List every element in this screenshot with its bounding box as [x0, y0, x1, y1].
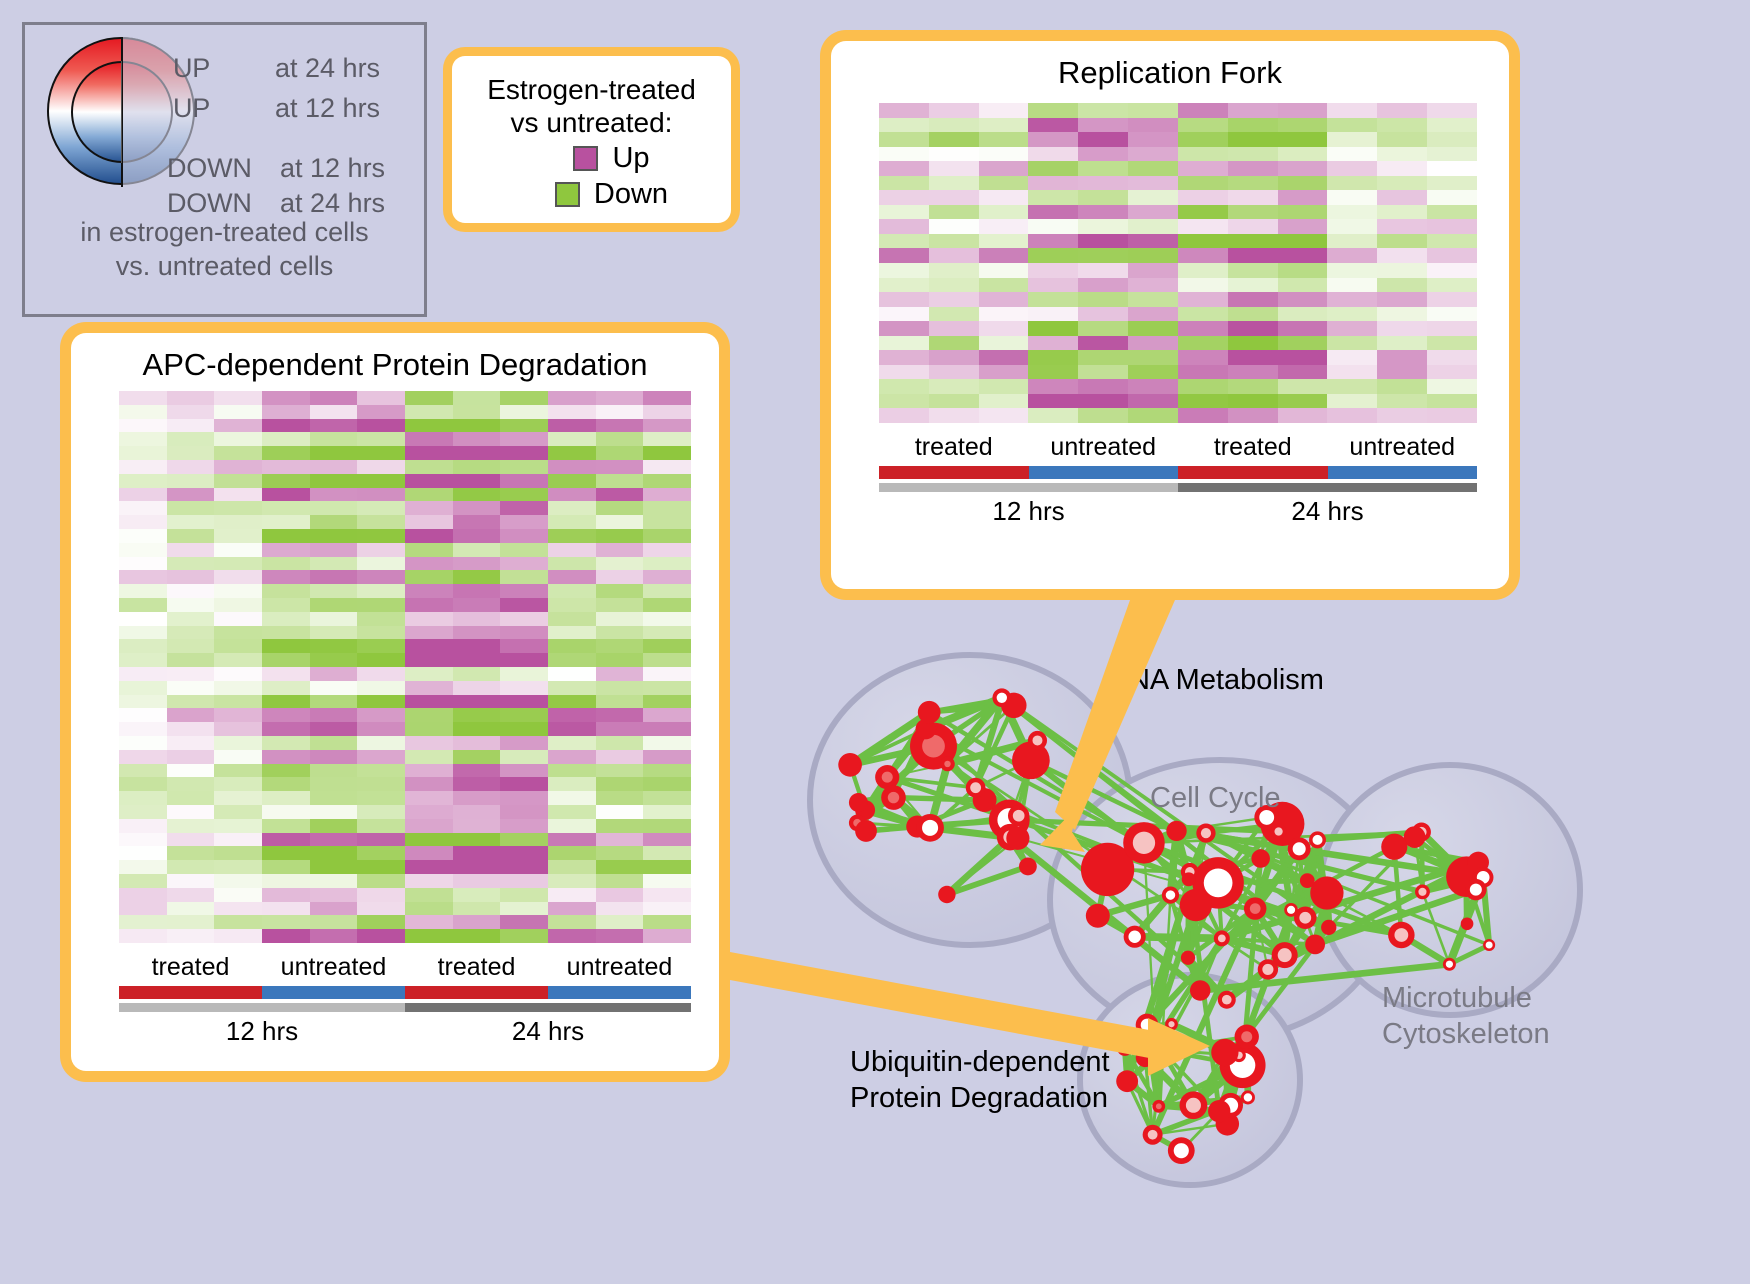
network-node[interactable] — [1190, 980, 1210, 1000]
heatmap-cell — [167, 681, 215, 695]
heatmap-cell — [262, 584, 310, 598]
heatmap-cell — [262, 805, 310, 819]
heatmap-cell — [214, 722, 262, 736]
heatmap-cell — [262, 736, 310, 750]
heatmap-cell — [1028, 321, 1078, 336]
heatmap-cell — [596, 750, 644, 764]
heatmap-cell — [596, 929, 644, 943]
heatmap-cell — [119, 391, 167, 405]
heatmap-cell — [262, 557, 310, 571]
heatmap-cell — [979, 365, 1029, 380]
heatmap-cell — [1128, 336, 1178, 351]
heatmap-cell — [310, 460, 358, 474]
heatmap-cell — [357, 557, 405, 571]
network-node[interactable] — [1168, 1137, 1195, 1164]
heatmap-cell — [214, 488, 262, 502]
heatmap-cell — [548, 488, 596, 502]
network-node[interactable] — [1182, 872, 1196, 886]
node-core — [1394, 928, 1408, 942]
heatmap-cell — [357, 791, 405, 805]
heatmap-cell — [310, 833, 358, 847]
heatmap-cell — [357, 419, 405, 433]
heatmap-cell — [548, 791, 596, 805]
heatmap-cell — [453, 874, 501, 888]
heatmap-cell — [1427, 103, 1477, 118]
heatmap-cell — [929, 379, 979, 394]
heatmap-cell — [500, 529, 548, 543]
network-node[interactable] — [1321, 920, 1336, 935]
node-outer-ring — [855, 820, 877, 842]
node-core — [1222, 995, 1232, 1005]
heatmap-cell — [1128, 350, 1178, 365]
heatmap-cell — [548, 805, 596, 819]
heatmap-cell — [1278, 118, 1328, 133]
heatmap-cell — [596, 584, 644, 598]
heatmap-cell — [643, 419, 691, 433]
network-node[interactable] — [940, 757, 955, 772]
apc-treatment-bar — [119, 986, 691, 999]
network-node[interactable] — [1288, 837, 1311, 860]
heatmap-cell — [596, 681, 644, 695]
network-node[interactable] — [1483, 939, 1495, 951]
heatmap-cell — [1278, 263, 1328, 278]
heatmap-cell — [262, 874, 310, 888]
network-node[interactable] — [849, 793, 868, 812]
heatmap-cell — [1128, 292, 1178, 307]
legend-time-up-12: at 12 hrs — [275, 93, 380, 124]
heatmap-cell — [548, 612, 596, 626]
network-node[interactable] — [1162, 886, 1179, 903]
heatmap-cell — [310, 929, 358, 943]
heatmap-cell — [1377, 219, 1427, 234]
network-node[interactable] — [1028, 731, 1047, 750]
heatmap-cell — [167, 722, 215, 736]
cluster-microtubule — [1320, 765, 1580, 1015]
heatmap-cell — [405, 432, 453, 446]
heatmap-cell — [1377, 394, 1427, 409]
heatmap-cell — [357, 833, 405, 847]
heatmap-cell — [310, 902, 358, 916]
heatmap-cell — [310, 736, 358, 750]
network-node[interactable] — [1415, 884, 1430, 899]
updown-key-row-down: Down — [515, 178, 668, 211]
heatmap-cell — [357, 639, 405, 653]
heatmap-cell — [310, 860, 358, 874]
heatmap-cell — [405, 846, 453, 860]
network-node[interactable] — [1008, 805, 1029, 826]
heatmap-cell — [405, 557, 453, 571]
heatmap-cell — [405, 529, 453, 543]
heatmap-cell — [643, 598, 691, 612]
heatmap-cell — [1228, 161, 1278, 176]
heatmap-cell — [596, 846, 644, 860]
heatmap-cell — [262, 612, 310, 626]
heatmap-cell — [453, 860, 501, 874]
heatmap-cell — [405, 570, 453, 584]
network-node[interactable] — [1244, 897, 1266, 919]
heatmap-cell — [1228, 408, 1278, 423]
heatmap-cell — [357, 488, 405, 502]
heatmap-cell — [262, 543, 310, 557]
heatmap-cell — [548, 653, 596, 667]
heatmap-cell — [548, 570, 596, 584]
heatmap-cell — [879, 103, 929, 118]
heatmap-cell — [643, 460, 691, 474]
time-label: 12 hrs — [879, 496, 1178, 527]
network-node[interactable] — [1152, 1100, 1165, 1113]
heatmap-cell — [119, 529, 167, 543]
network-node[interactable] — [1208, 1100, 1230, 1122]
heatmap-cell — [1178, 219, 1228, 234]
heatmap-cell — [979, 161, 1029, 176]
heatmap-cell — [357, 708, 405, 722]
heatmap-cell — [1427, 190, 1477, 205]
heatmap-cell — [167, 391, 215, 405]
heatmap-cell — [214, 833, 262, 847]
network-node[interactable] — [1241, 1090, 1255, 1104]
network-node[interactable] — [1465, 879, 1486, 900]
node-outer-ring — [849, 793, 868, 812]
heatmap-cell — [119, 915, 167, 929]
node-outer-ring — [1321, 920, 1336, 935]
heatmap-cell — [405, 543, 453, 557]
updown-key-title-line2: vs untreated: — [487, 106, 696, 139]
node-core — [1278, 948, 1292, 962]
heatmap-cell — [643, 529, 691, 543]
heatmap-cell — [548, 929, 596, 943]
node-core — [1287, 906, 1295, 914]
heatmap-cell — [1278, 103, 1328, 118]
heatmap-cell — [1427, 205, 1477, 220]
heatmap-cell — [929, 365, 979, 380]
heatmap-cell — [1327, 292, 1377, 307]
heatmap-cell — [1128, 321, 1178, 336]
network-node[interactable] — [1461, 917, 1474, 930]
heatmap-cell — [453, 598, 501, 612]
heatmap-cell — [596, 653, 644, 667]
node-outer-ring — [1305, 934, 1325, 954]
heatmap-cell — [548, 819, 596, 833]
heatmap-cell — [500, 722, 548, 736]
heatmap-cell — [643, 501, 691, 515]
replication-treatment-bar — [879, 466, 1477, 479]
heatmap-cell — [596, 833, 644, 847]
heatmap-cell — [1327, 408, 1377, 423]
heatmap-cell — [310, 888, 358, 902]
network-node[interactable] — [1086, 904, 1110, 928]
heatmap-cell — [979, 132, 1029, 147]
heatmap-cell — [643, 805, 691, 819]
heatmap-cell — [214, 501, 262, 515]
network-node[interactable] — [1117, 1040, 1133, 1056]
network-node[interactable] — [1019, 858, 1037, 876]
heatmap-cell — [1228, 132, 1278, 147]
heatmap-cell — [167, 846, 215, 860]
heatmap-cell — [1228, 219, 1278, 234]
heatmap-cell — [548, 902, 596, 916]
heatmap-cell — [167, 639, 215, 653]
heatmap-cell — [310, 681, 358, 695]
heatmap-cell — [167, 929, 215, 943]
network-node[interactable] — [992, 688, 1011, 707]
node-outer-ring — [1461, 917, 1474, 930]
heatmap-cell — [596, 515, 644, 529]
heatmap-cell — [548, 391, 596, 405]
network-node[interactable] — [1218, 991, 1236, 1009]
heatmap-cell — [405, 750, 453, 764]
inner-ring-divider-line — [121, 61, 122, 163]
heatmap-cell — [1178, 176, 1228, 191]
heatmap-cell — [310, 598, 358, 612]
legend-footer-line2: vs. untreated cells — [25, 249, 424, 283]
heatmap-cell — [453, 819, 501, 833]
network-node[interactable] — [1143, 1125, 1163, 1145]
heatmap-cell — [1427, 365, 1477, 380]
heatmap-cell — [1178, 379, 1228, 394]
heatmap-cell — [214, 432, 262, 446]
heatmap-cell — [548, 874, 596, 888]
heatmap-cell — [1278, 132, 1328, 147]
heatmap-cell — [167, 764, 215, 778]
heatmap-cell — [357, 501, 405, 515]
network-node[interactable] — [1310, 876, 1343, 909]
network-node[interactable] — [918, 701, 941, 724]
node-outer-ring — [1300, 873, 1315, 888]
heatmap-cell — [1128, 147, 1178, 162]
network-node[interactable] — [1381, 834, 1407, 860]
heatmap-cell — [500, 612, 548, 626]
heatmap-cell — [262, 446, 310, 460]
heatmap-cell — [879, 234, 929, 249]
heatmap-cell — [1128, 263, 1178, 278]
heatmap-cell — [405, 819, 453, 833]
network-node[interactable] — [1180, 889, 1212, 921]
group-label: treated — [1178, 433, 1328, 462]
heatmap-cell — [119, 764, 167, 778]
heatmap-cell — [1377, 408, 1427, 423]
heatmap-cell — [643, 736, 691, 750]
heatmap-cell — [643, 860, 691, 874]
network-node[interactable] — [1258, 959, 1278, 979]
heatmap-cell — [879, 132, 929, 147]
heatmap-cell — [643, 902, 691, 916]
heatmap-cell — [643, 557, 691, 571]
heatmap-cell — [596, 902, 644, 916]
heatmap-cell — [1327, 263, 1377, 278]
network-node[interactable] — [966, 778, 986, 798]
heatmap-cell — [310, 750, 358, 764]
heatmap-cell — [500, 695, 548, 709]
node-outer-ring — [1180, 889, 1212, 921]
network-node[interactable] — [1235, 1025, 1259, 1049]
time-label: 24 hrs — [405, 1016, 691, 1047]
heatmap-cell — [214, 529, 262, 543]
heatmap-cell — [1327, 350, 1377, 365]
network-node[interactable] — [1136, 1014, 1159, 1037]
cluster-label-dna-metabolism: DNA Metabolism — [1108, 662, 1324, 698]
network-node[interactable] — [1214, 930, 1230, 946]
pathway-network-diagram: DNA Metabolism Cell Cycle Microtubule Cy… — [790, 600, 1750, 1279]
node-outer-ring — [1019, 858, 1037, 876]
heatmap-cell — [453, 791, 501, 805]
heatmap-cell — [262, 695, 310, 709]
heatmap-cell — [500, 391, 548, 405]
updown-color-key: Estrogen-treated vs untreated: Up Down — [443, 47, 740, 232]
heatmap-cell — [1078, 234, 1128, 249]
heatmap-cell — [214, 888, 262, 902]
group-label: untreated — [1328, 433, 1478, 462]
heatmap-cell — [357, 432, 405, 446]
heatmap-cell — [500, 432, 548, 446]
heatmap-cell — [929, 394, 979, 409]
network-node[interactable] — [1300, 873, 1315, 888]
network-node[interactable] — [881, 785, 906, 810]
heatmap-cell — [214, 598, 262, 612]
node-core — [1293, 842, 1306, 855]
heatmap-cell — [500, 653, 548, 667]
heatmap-cell — [1327, 248, 1377, 263]
heatmap-cell — [214, 543, 262, 557]
heatmap-cell — [167, 488, 215, 502]
heatmap-cell — [167, 888, 215, 902]
treatment-bar-segment — [262, 986, 405, 999]
replication-axis: treated untreated treated untreated 12 h… — [879, 433, 1477, 527]
cluster-label-microtubule: Microtubule — [1382, 980, 1532, 1016]
heatmap-cell — [1278, 176, 1328, 191]
heatmap-cell — [500, 708, 548, 722]
node-core — [1157, 1046, 1166, 1055]
node-outer-ring — [1208, 1100, 1230, 1122]
node-core — [1250, 903, 1261, 914]
heatmap-cell — [1427, 118, 1477, 133]
heatmap-cell — [1278, 205, 1328, 220]
heatmap-cell — [643, 432, 691, 446]
heatmap-cell — [310, 667, 358, 681]
heatmap-cell — [1128, 205, 1178, 220]
heatmap-cell — [1028, 190, 1078, 205]
network-node[interactable] — [1165, 1018, 1178, 1031]
heatmap-cell — [548, 833, 596, 847]
heatmap-cell — [1377, 190, 1427, 205]
heatmap-cell — [500, 584, 548, 598]
heatmap-cell — [214, 474, 262, 488]
heatmap-cell — [310, 557, 358, 571]
heatmap-cell — [1028, 219, 1078, 234]
heatmap-cell — [643, 722, 691, 736]
heatmap-cell — [979, 321, 1029, 336]
heatmap-cell — [879, 161, 929, 176]
group-label: treated — [879, 433, 1029, 462]
network-node[interactable] — [1309, 831, 1326, 848]
network-node[interactable] — [1443, 958, 1456, 971]
network-node[interactable] — [1006, 827, 1029, 850]
heatmap-cell — [1028, 336, 1078, 351]
heatmap-cell — [500, 888, 548, 902]
heatmap-cell — [1128, 234, 1178, 249]
heatmap-cell — [1128, 379, 1178, 394]
network-node[interactable] — [938, 886, 955, 903]
up-label: Up — [612, 142, 649, 175]
heatmap-cell — [1327, 219, 1377, 234]
node-core — [1470, 884, 1482, 896]
heatmap-cell — [979, 118, 1029, 133]
heatmap-cell — [879, 379, 929, 394]
heatmap-cell — [1377, 205, 1427, 220]
network-node[interactable] — [1181, 951, 1195, 965]
heatmap-cell — [929, 248, 979, 263]
heatmap-cell — [879, 263, 929, 278]
heatmap-cell — [1228, 147, 1278, 162]
heatmap-cell — [357, 819, 405, 833]
heatmap-cell — [119, 598, 167, 612]
network-node[interactable] — [1211, 1039, 1238, 1066]
heatmap-cell — [979, 176, 1029, 191]
network-node[interactable] — [1152, 1041, 1171, 1060]
network-node[interactable] — [1305, 934, 1325, 954]
node-outer-ring — [1136, 1048, 1155, 1067]
heatmap-cell — [214, 446, 262, 460]
heatmap-cell — [1128, 248, 1178, 263]
network-node[interactable] — [1271, 824, 1286, 839]
group-label: untreated — [1029, 433, 1179, 462]
heatmap-cell — [596, 391, 644, 405]
network-node[interactable] — [916, 814, 944, 842]
heatmap-cell — [879, 408, 929, 423]
heatmap-cell — [596, 419, 644, 433]
heatmap-cell — [929, 132, 979, 147]
heatmap-cell — [310, 708, 358, 722]
heatmap-cell — [167, 432, 215, 446]
heatmap-cell — [262, 681, 310, 695]
network-node[interactable] — [1124, 926, 1146, 948]
treatment-bar-segment — [1328, 466, 1478, 479]
heatmap-cell — [1327, 379, 1377, 394]
network-node[interactable] — [1251, 849, 1270, 868]
heatmap-cell — [929, 190, 979, 205]
heatmap-cell — [596, 626, 644, 640]
node-core — [1186, 1098, 1201, 1113]
network-svg — [790, 600, 1750, 1279]
heatmap-cell — [1278, 292, 1328, 307]
network-node[interactable] — [1136, 1048, 1155, 1067]
heatmap-cell — [1078, 321, 1128, 336]
network-node[interactable] — [1180, 1091, 1208, 1119]
heatmap-cell — [643, 639, 691, 653]
heatmap-cell — [357, 405, 405, 419]
treatment-bar-segment — [1178, 466, 1328, 479]
heatmap-cell — [453, 695, 501, 709]
network-node[interactable] — [1196, 823, 1215, 842]
heatmap-cell — [879, 321, 929, 336]
network-node[interactable] — [1388, 922, 1415, 949]
heatmap-cell — [1327, 176, 1377, 191]
network-node[interactable] — [1123, 822, 1165, 864]
heatmap-cell — [643, 819, 691, 833]
network-node[interactable] — [855, 820, 877, 842]
heatmap-cell — [929, 219, 979, 234]
network-node[interactable] — [1284, 903, 1298, 917]
network-node[interactable] — [1116, 1070, 1138, 1092]
heatmap-cell — [1078, 278, 1128, 293]
network-node[interactable] — [838, 753, 862, 777]
panel-replication-fork: Replication Fork treated untreated treat… — [820, 30, 1520, 600]
heatmap-cell — [548, 529, 596, 543]
network-node[interactable] — [1166, 821, 1186, 841]
legend-time-up-24: at 24 hrs — [275, 53, 380, 84]
heatmap-cell — [1278, 234, 1328, 249]
heatmap-cell — [405, 708, 453, 722]
heatmap-cell — [1128, 365, 1178, 380]
